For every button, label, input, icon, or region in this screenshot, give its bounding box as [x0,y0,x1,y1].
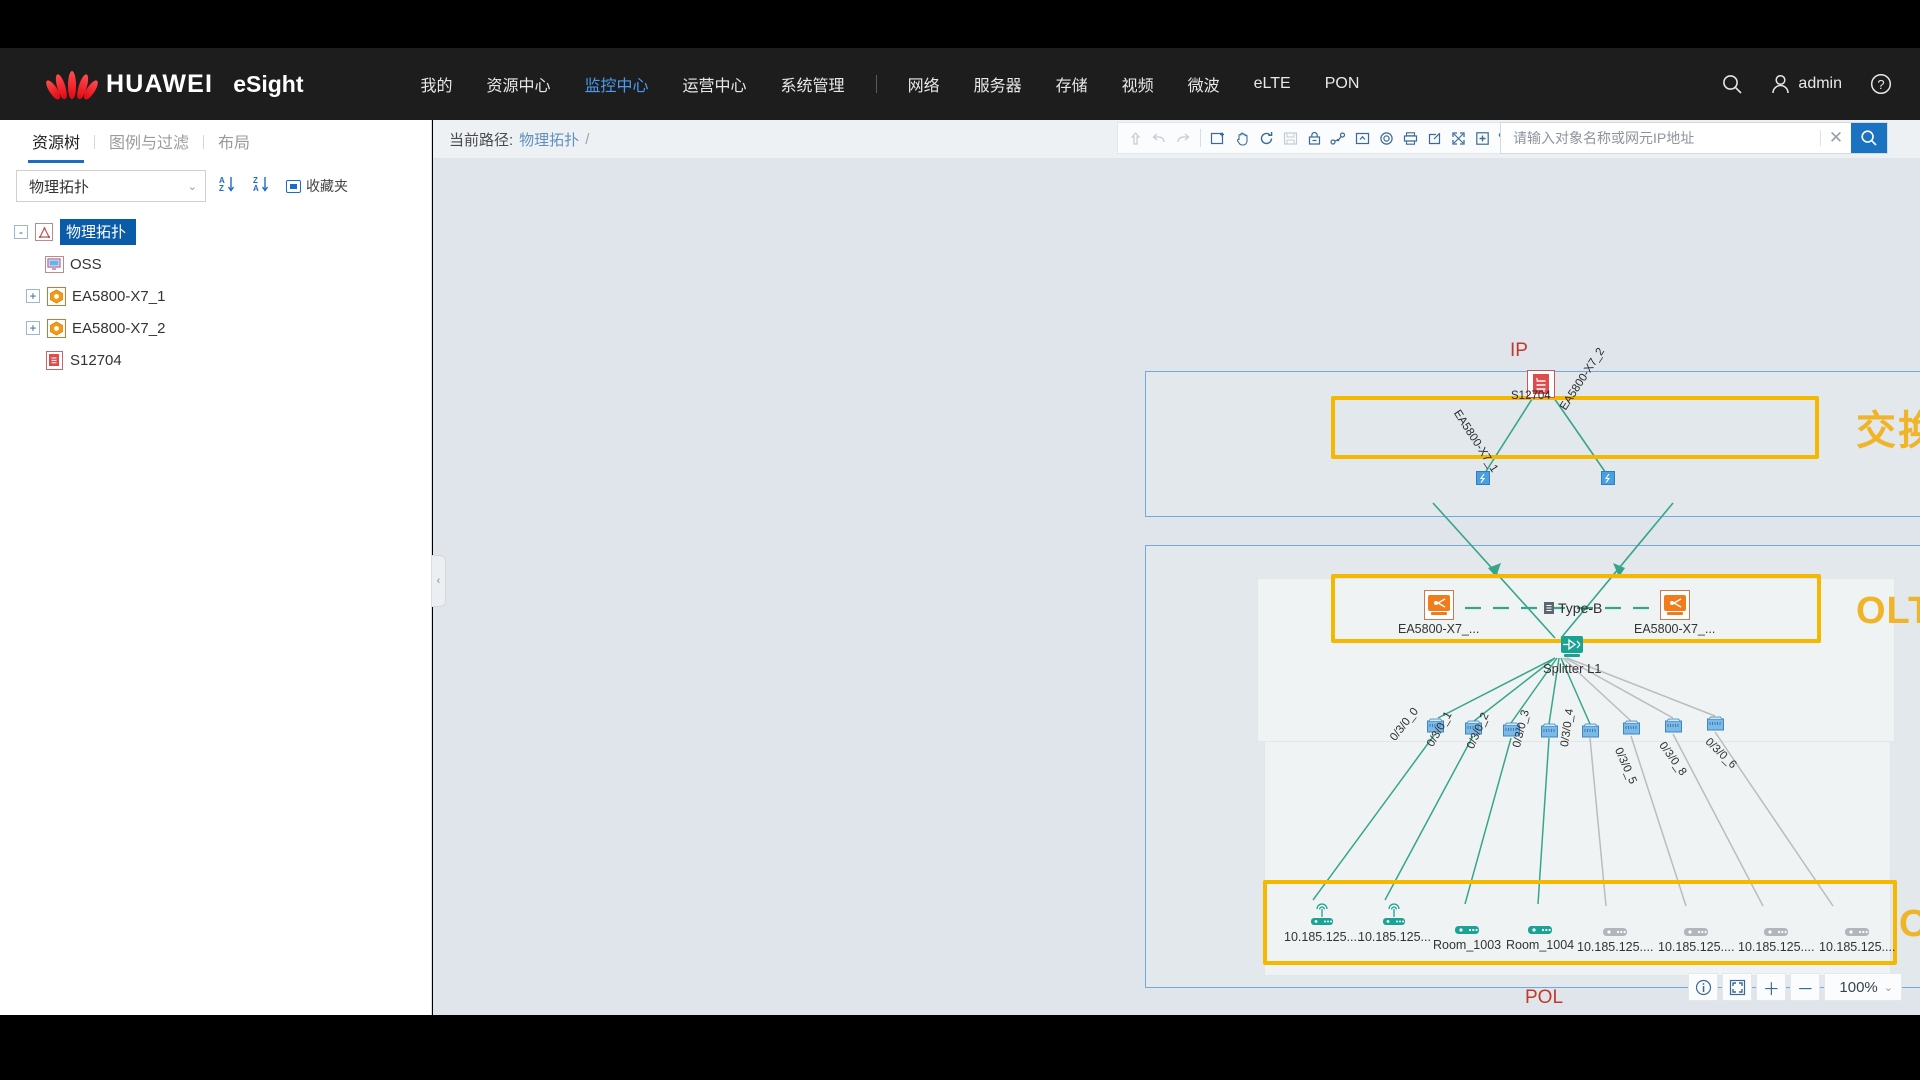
node-label-ont-3: Room_1004 [1506,938,1574,952]
pon-port-3[interactable] [1541,723,1558,743]
node-label-ont-7: 10.185.125.... [1819,940,1895,954]
node-olt-1[interactable]: EA5800-X7_... [1398,590,1479,636]
tree-node-oss[interactable]: OSS [0,248,431,280]
node-label-ont-6: 10.185.125.... [1738,940,1814,954]
zoom-in-button[interactable]: ＋ [1756,973,1786,1001]
lock-icon[interactable] [1303,126,1325,150]
port-marker-right[interactable] [1601,471,1615,490]
nav-item-storage[interactable]: 存储 [1039,66,1105,102]
ont-icon [1525,910,1555,936]
node-ont-1[interactable]: 10.185.125... [1358,902,1431,944]
nav-item-network[interactable]: 网络 [891,66,957,102]
node-splitter-l1[interactable]: Splitter L1 [1543,635,1602,676]
ont-icon-grey [1681,912,1711,938]
save-icon[interactable] [1279,126,1301,150]
nav-item-microwave[interactable]: 微波 [1171,66,1237,102]
olt-device-icon [1660,590,1690,620]
sidebar-controls: 物理拓扑 ⌄ AZ ZA 收藏夹 [0,164,431,202]
zoom-level-select[interactable]: 100% ⌄ [1824,973,1902,1001]
switch-device-icon [44,350,64,370]
nav-divider [876,75,877,93]
olt-device-icon [46,286,66,306]
nav-item-my[interactable]: 我的 [403,66,469,102]
bottom-black-strip [0,1015,1920,1080]
undo-icon[interactable] [1148,126,1170,150]
sidebar-tabs: 资源树 图例与过滤 布局 [0,120,431,164]
pan-hand-icon[interactable] [1231,126,1253,150]
nav-item-video[interactable]: 视频 [1105,66,1171,102]
ont-wifi-icon [1379,902,1409,928]
svg-text:?: ? [1877,77,1884,92]
help-icon[interactable]: ? [1870,73,1892,95]
splitter-icon [1559,635,1585,659]
huawei-flower-icon [52,69,92,99]
topology-type-value: 物理拓扑 [29,176,89,197]
olt-device-icon [1424,590,1454,620]
user-name-label: admin [1798,75,1842,93]
tab-legend-filter[interactable]: 图例与过滤 [95,121,203,163]
refresh-icon[interactable] [1255,126,1277,150]
pon-port-4[interactable] [1582,723,1599,743]
tree-node-label: EA5800-X7_1 [72,288,165,305]
zoom-controls: ＋ － 100% ⌄ [1688,973,1902,1001]
zoom-level-value: 100% [1839,979,1877,996]
breadcrumb-link-physical-topology[interactable]: 物理拓扑 [519,129,579,150]
svg-text:Z: Z [219,184,224,193]
info-icon[interactable] [1688,973,1718,1001]
node-label-ont-4: 10.185.125.... [1577,940,1653,954]
olt-device-icon [46,318,66,338]
ont-icon-grey [1842,912,1872,938]
switch-highlight-box [1331,396,1819,459]
tab-layout[interactable]: 布局 [204,121,264,163]
tree-expander-collapse[interactable]: - [14,225,28,239]
collapse-box-icon[interactable] [1351,126,1373,150]
breadcrumb-prefix: 当前路径: [449,129,513,150]
tree-expander-expand[interactable]: + [26,321,40,335]
node-label-ont-0: 10.185.125.... [1284,930,1360,944]
tree-node-s12704[interactable]: S12704 [0,344,431,376]
node-label-olt-1: EA5800-X7_... [1398,622,1479,636]
brand-name: HUAWEI [106,70,213,99]
app-header: HUAWEI eSight 我的 资源中心 监控中心 运营中心 系统管理 网络 … [0,48,1920,120]
annotation-ip: IP [1510,340,1528,362]
zoom-out-button[interactable]: － [1790,973,1820,1001]
link-badge-icon [1543,601,1555,615]
node-olt-2[interactable]: EA5800-X7_... [1634,590,1715,636]
topology-canvas[interactable]: S12704 EA5800-X7_1 EA5800-X7_2 EA5800-X7… [433,158,1920,1015]
port-marker-left[interactable] [1476,471,1490,490]
nav-item-operation-center[interactable]: 运营中心 [666,66,764,102]
annotation-olt: OLT [1856,590,1920,633]
main-navigation: 我的 资源中心 监控中心 运营中心 系统管理 网络 服务器 存储 视频 微波 e… [403,66,1376,102]
annotation-switch: 交换机 [1856,398,1920,456]
ont-icon [1452,910,1482,936]
favorites-icon [286,180,301,193]
topology-icon [34,222,54,242]
tree-node-ea5800-x7-1[interactable]: + EA5800-X7_1 [0,280,431,312]
node-label-splitter: Splitter L1 [1543,661,1602,676]
nav-item-system-management[interactable]: 系统管理 [764,66,862,102]
print-icon[interactable] [1399,126,1421,150]
resource-tree: - 物理拓扑 OSS + [0,216,431,376]
nav-item-resource-center[interactable]: 资源中心 [470,66,568,102]
add-box-icon[interactable] [1471,126,1493,150]
left-sidebar: 资源树 图例与过滤 布局 物理拓扑 ⌄ AZ ZA 收藏夹 - [0,120,432,1015]
fit-screen-icon[interactable] [1722,973,1752,1001]
svg-text:A: A [253,184,259,193]
tree-node-label: 物理拓扑 [60,219,136,245]
pon-port-6[interactable] [1665,718,1682,738]
settings-gear-icon[interactable] [1375,126,1397,150]
breadcrumb-separator: / [585,131,589,148]
node-ont-2[interactable]: Room_1003 [1433,910,1501,952]
nav-item-pon[interactable]: PON [1308,69,1377,99]
node-label-ont-5: 10.185.125.... [1658,940,1734,954]
node-label-s12704: S12704 [1511,390,1551,402]
node-ont-6[interactable]: 10.185.125.... [1738,912,1814,954]
annotation-pol: POL [1525,987,1563,1009]
fullscreen-icon[interactable] [1447,126,1469,150]
topology-workarea: 当前路径: 物理拓扑 / [433,120,1920,1015]
tree-node-label: OSS [70,256,102,273]
top-black-strip [0,0,1920,48]
toolbar-divider [1200,129,1201,147]
nav-item-monitor-center[interactable]: 监控中心 [568,66,666,102]
search-submit-button[interactable] [1851,123,1887,153]
ont-wifi-icon [1307,902,1337,928]
pon-port-7[interactable] [1707,716,1724,736]
sort-ascending-icon[interactable]: AZ [216,173,240,199]
tree-node-label: EA5800-X7_2 [72,320,165,337]
tab-resource-tree[interactable]: 资源树 [18,121,94,163]
header-actions: admin ? [1721,48,1892,120]
up-level-icon[interactable] [1124,126,1146,150]
search-input[interactable] [1501,130,1820,146]
redo-icon[interactable] [1172,126,1194,150]
tree-node-ea5800-x7-2[interactable]: + EA5800-X7_2 [0,312,431,344]
nav-item-elte[interactable]: eLTE [1237,69,1308,99]
node-ont-4[interactable]: 10.185.125.... [1577,912,1653,954]
chevron-down-icon: ⌄ [188,180,197,193]
node-label-ont-1: 10.185.125... [1358,930,1431,944]
topology-type-select[interactable]: 物理拓扑 ⌄ [16,170,206,202]
node-label-ont-2: Room_1003 [1433,938,1501,952]
annotation-ont: ONT [1899,903,1920,946]
tree-node-label: S12704 [70,352,122,369]
sort-descending-icon[interactable]: ZA [250,173,274,199]
brand-logo[interactable]: HUAWEI eSight [52,69,303,99]
screen-root: HUAWEI eSight 我的 资源中心 监控中心 运营中心 系统管理 网络 … [0,0,1920,1080]
link-topology-icon[interactable] [1327,126,1349,150]
ont-icon-grey [1761,912,1791,938]
sidebar-collapse-handle[interactable]: ‹ [432,555,446,607]
add-node-icon[interactable] [1207,126,1229,150]
node-label-olt-2: EA5800-X7_... [1634,622,1715,636]
product-name: eSight [233,71,303,98]
user-icon [1771,74,1790,95]
tree-node-physical-topology[interactable]: - 物理拓扑 [0,216,431,248]
favorites-button[interactable]: 收藏夹 [286,176,348,196]
pon-port-5[interactable] [1623,720,1640,740]
topology-search[interactable]: ✕ [1500,122,1888,154]
tree-expander-expand[interactable]: + [26,289,40,303]
node-ont-0[interactable]: 10.185.125.... [1284,902,1360,944]
edit-icon[interactable] [1423,126,1445,150]
link-type-b-label: Type-B [1558,600,1602,616]
nav-item-server[interactable]: 服务器 [957,66,1039,102]
link-type-b-badge[interactable]: Type-B [1543,600,1602,616]
topology-toolbar [1117,122,1524,154]
oss-monitor-icon [44,254,64,274]
chevron-down-icon: ⌄ [1884,981,1893,994]
search-icon[interactable] [1721,73,1743,95]
user-menu[interactable]: admin [1771,74,1842,95]
node-ont-7[interactable]: 10.185.125.... [1819,912,1895,954]
node-ont-3[interactable]: Room_1004 [1506,910,1574,952]
favorites-label: 收藏夹 [306,176,348,196]
ont-icon-grey [1600,912,1630,938]
close-icon[interactable]: ✕ [1821,123,1851,153]
node-ont-5[interactable]: 10.185.125.... [1658,912,1734,954]
